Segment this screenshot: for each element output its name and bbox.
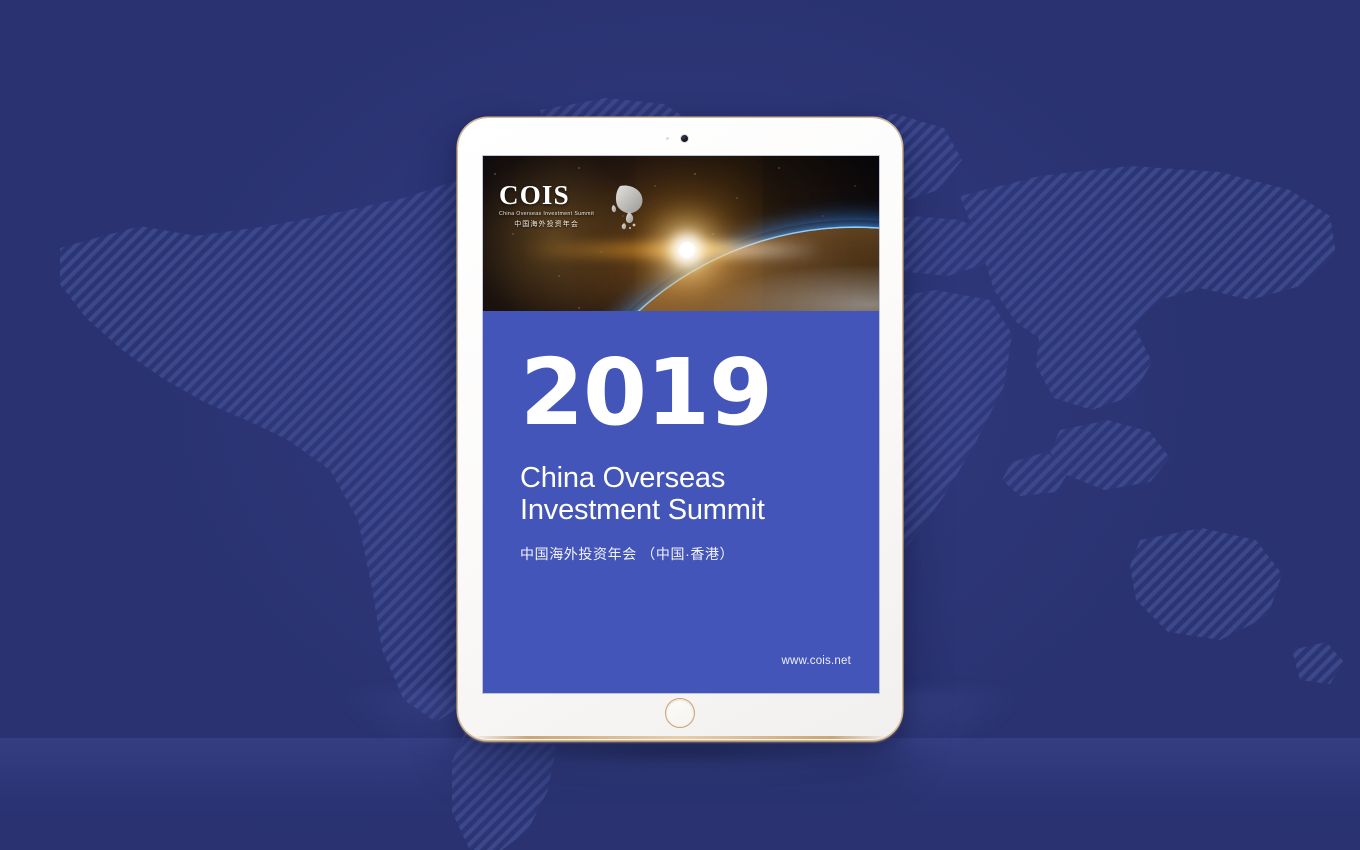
cover-title-line1: China Overseas: [520, 462, 879, 494]
front-camera-icon: [681, 135, 688, 142]
cover-title-en: China Overseas Investment Summit: [520, 462, 879, 527]
cois-wordmark: COIS: [499, 183, 594, 209]
scene-stage: COIS China Overseas Investment Summit 中国…: [0, 0, 1360, 850]
tablet-screen[interactable]: COIS China Overseas Investment Summit 中国…: [483, 156, 879, 693]
cois-logo: COIS China Overseas Investment Summit 中国…: [499, 182, 645, 231]
cover-year: 2019: [520, 351, 879, 436]
sun-flare: [679, 242, 695, 258]
cover-title-cn: 中国海外投资年会 （中国·香港）: [520, 544, 879, 564]
cover-banner-image: COIS China Overseas Investment Summit 中国…: [483, 156, 879, 311]
cover-body: 2019 China Overseas Investment Summit 中国…: [483, 311, 879, 693]
cover-website-url[interactable]: www.cois.net: [781, 655, 851, 667]
cois-subtitle-en: China Overseas Investment Summit: [499, 211, 594, 217]
sun-streak: [523, 242, 823, 258]
cois-logo-text: COIS China Overseas Investment Summit 中国…: [499, 182, 594, 229]
cois-subtitle-cn: 中国海外投资年会: [499, 219, 594, 229]
globe-asia-icon: [599, 183, 645, 231]
cover-title-line2: Investment Summit: [520, 494, 879, 526]
gold-rim-highlight: [469, 736, 891, 739]
ambient-sensor-icon: [666, 137, 669, 140]
home-button[interactable]: [665, 698, 695, 728]
